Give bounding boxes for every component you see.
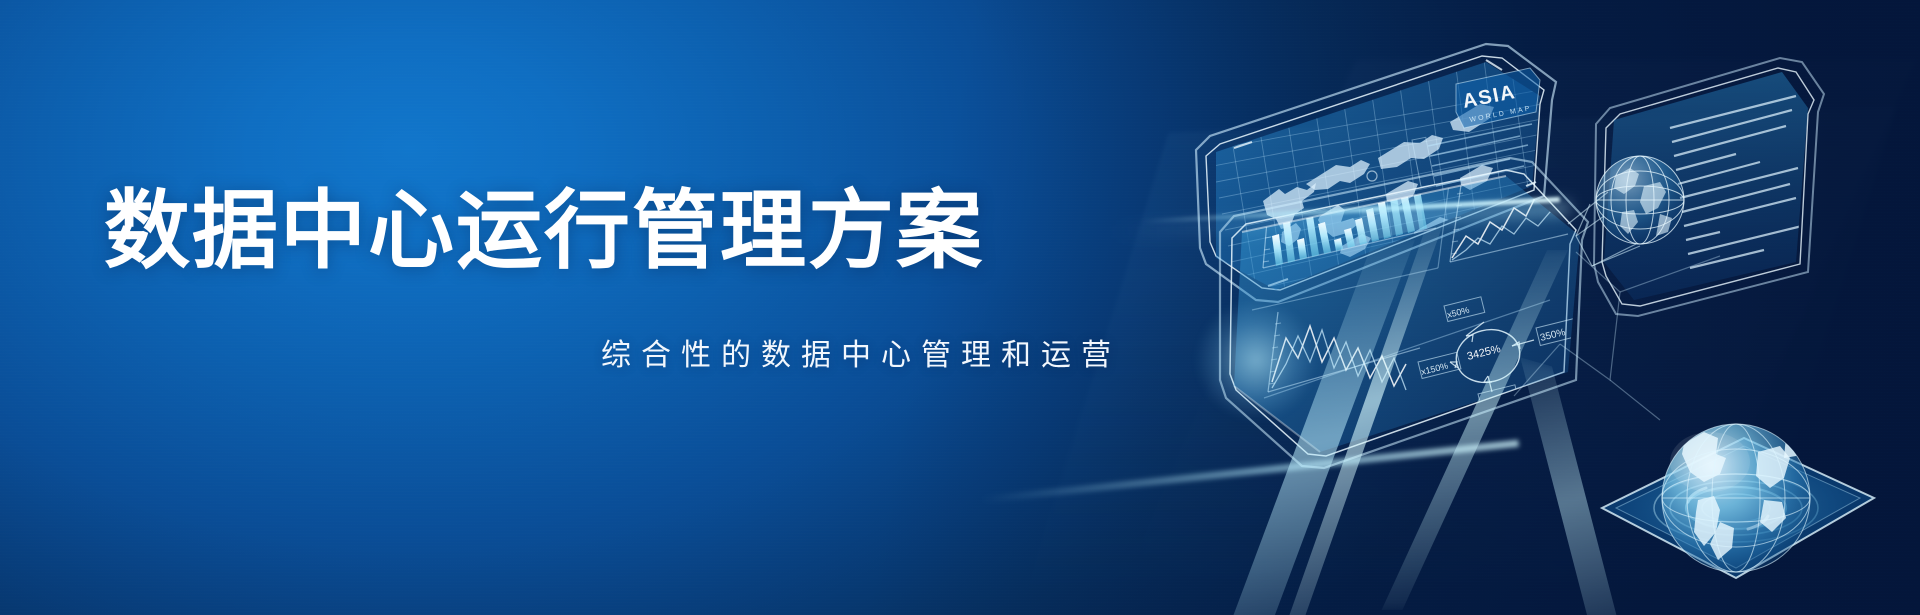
document-panel	[1568, 58, 1824, 316]
hero-banner: ASIA WORLD MAP	[0, 0, 1920, 615]
page-title: 数据中心运行管理方案	[104, 186, 984, 276]
hologram-illustration: ASIA WORLD MAP	[1020, 0, 1920, 615]
hero-text-block: 数据中心运行管理方案 综合性的数据中心管理和运营	[0, 0, 1100, 615]
globe-platform-group	[1602, 424, 1874, 578]
page-subtitle: 综合性的数据中心管理和运营	[601, 338, 1121, 374]
